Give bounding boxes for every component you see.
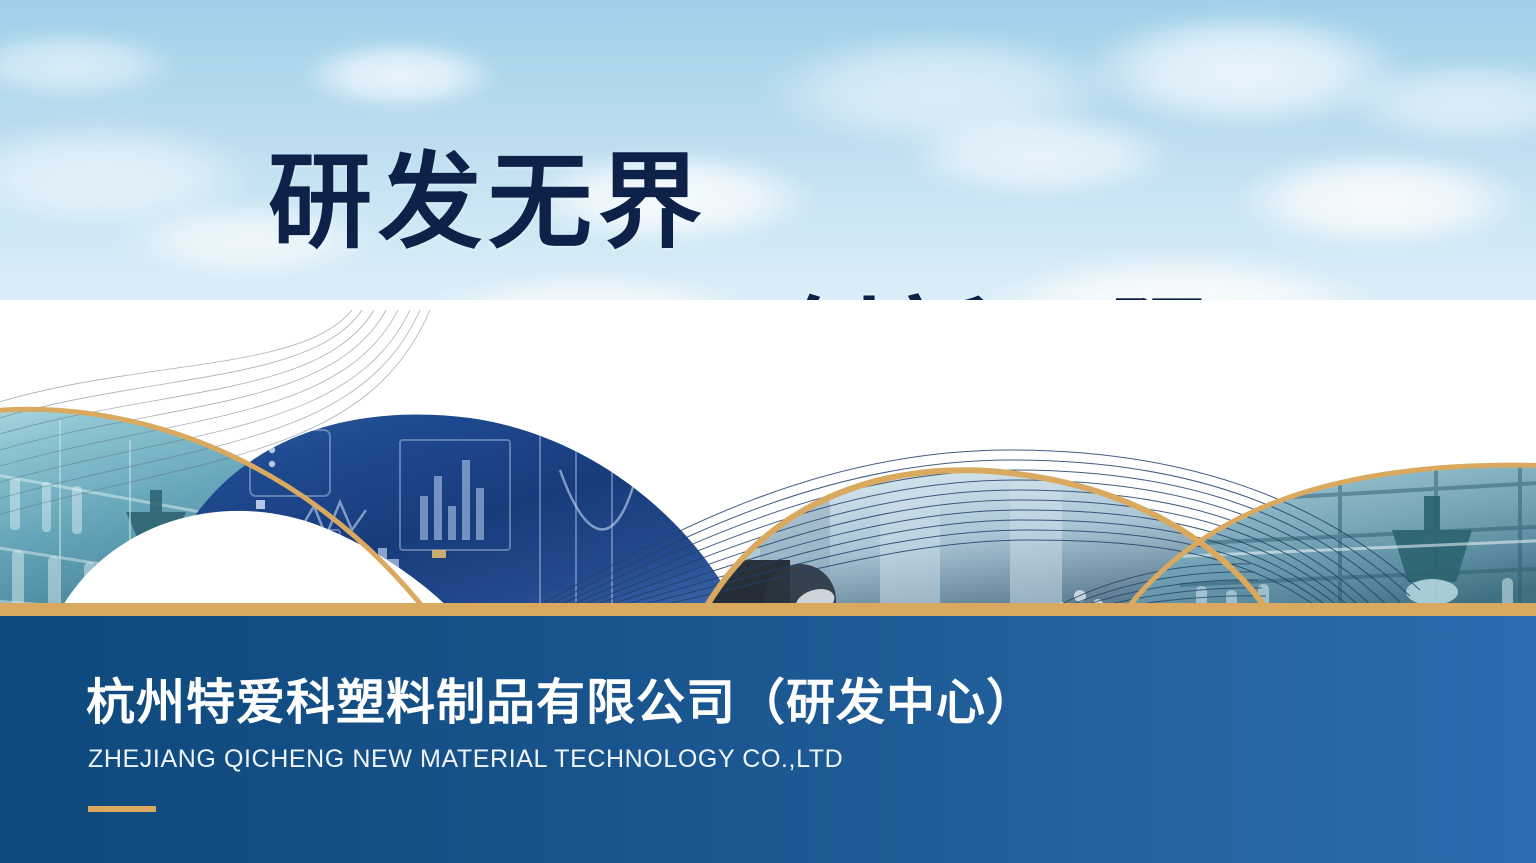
gold-accent-rule	[88, 806, 156, 812]
gold-divider-bar	[0, 603, 1536, 616]
company-name-chinese: 杭州特爱科塑料制品有限公司（研发中心）	[86, 663, 1036, 734]
headline-line-1: 研发无界	[268, 150, 708, 254]
footer-band	[0, 616, 1536, 863]
slide-canvas: 研发无界 创新无限	[0, 0, 1536, 863]
arc-artwork	[0, 300, 1536, 616]
company-name-english: ZHEJIANG QICHENG NEW MATERIAL TECHNOLOGY…	[88, 745, 843, 774]
